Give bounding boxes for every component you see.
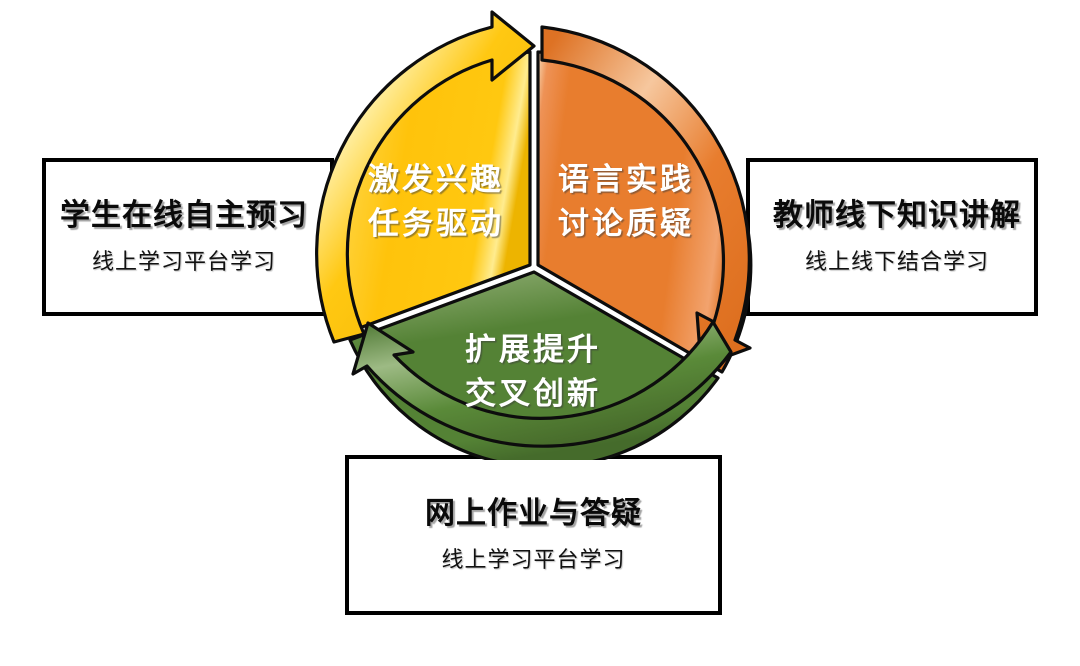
caption-left-subtitle: 线上学习平台学习 bbox=[92, 250, 276, 275]
caption-right-title: 教师线下知识讲解 bbox=[773, 199, 1021, 233]
caption-right-subtitle: 线上线下结合学习 bbox=[805, 250, 989, 275]
diagram-canvas: 学生在线自主预习 线上学习平台学习 教师线下知识讲解 线上线下结合学习 网上作业… bbox=[0, 0, 1080, 666]
caption-box-bottom: 网上作业与答疑 线上学习平台学习 bbox=[345, 455, 722, 615]
caption-left-title: 学生在线自主预习 bbox=[60, 199, 308, 233]
cycle-diagram: 激发兴趣 任务驱动 语言实践 讨论质疑 扩展提升 交叉创新 bbox=[276, 10, 796, 460]
caption-bottom-subtitle: 线上学习平台学习 bbox=[441, 548, 625, 573]
caption-bottom-title: 网上作业与答疑 bbox=[425, 497, 642, 531]
